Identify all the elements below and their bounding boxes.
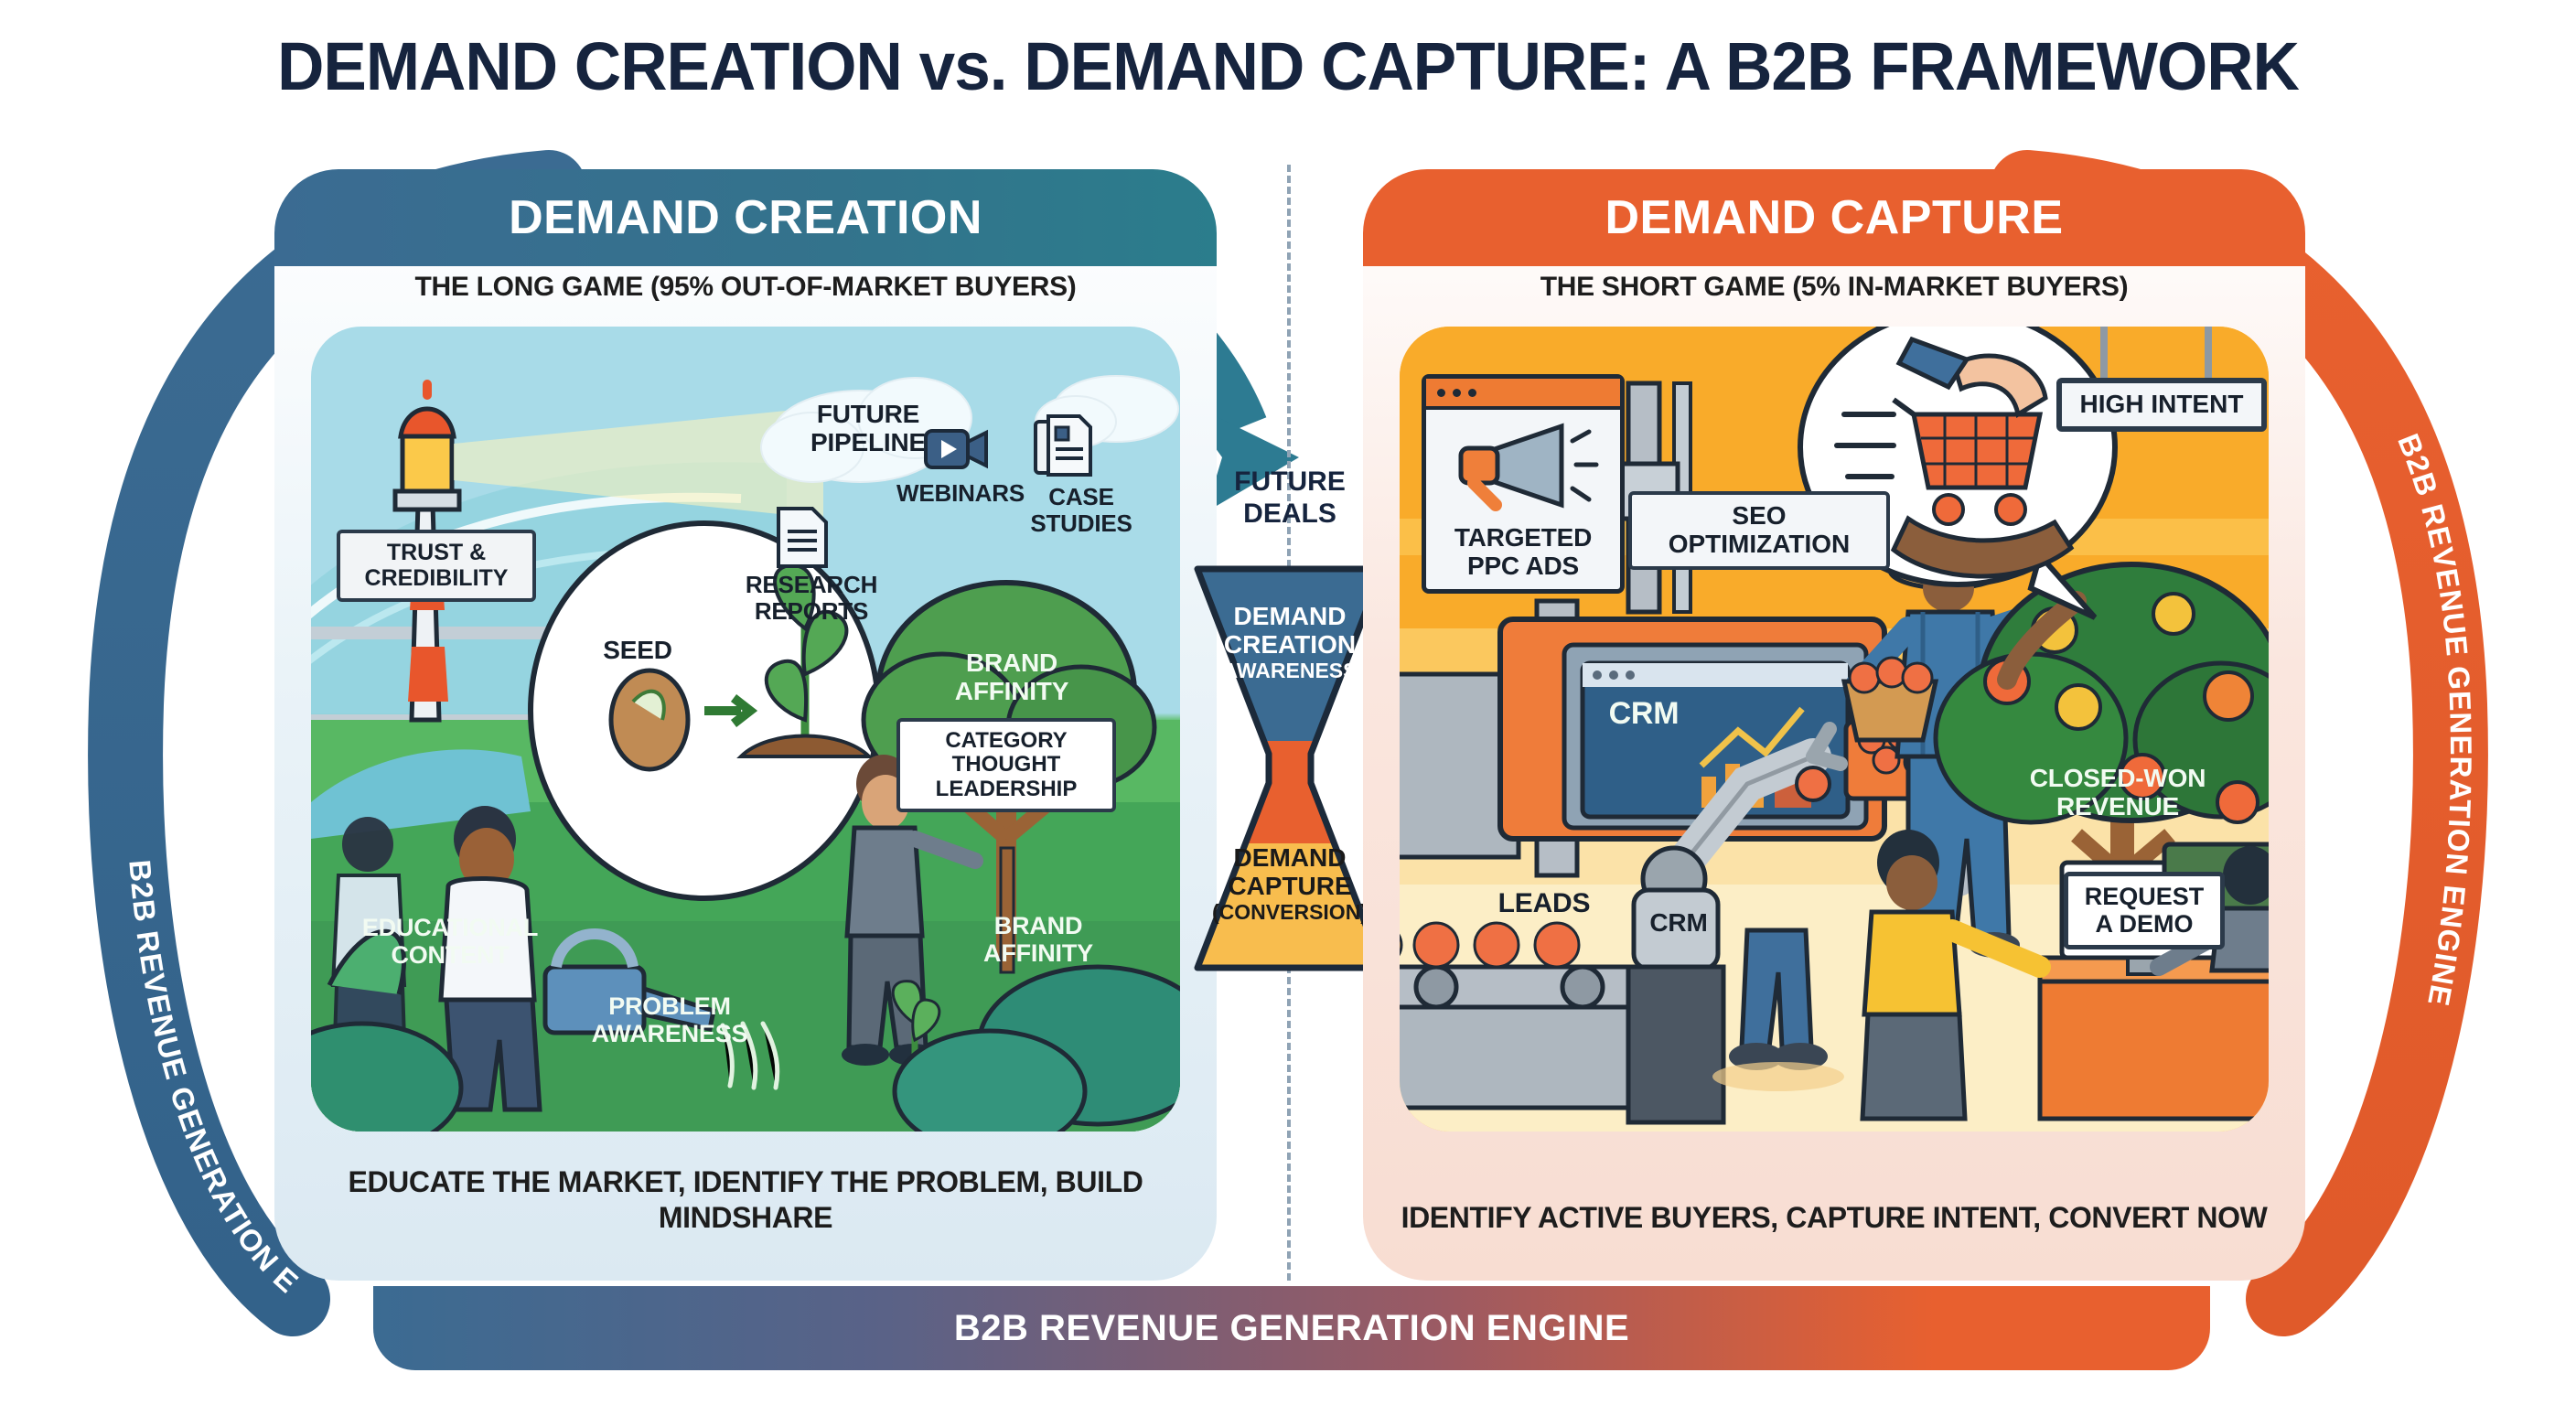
demand-capture-header: DEMAND CAPTURE: [1363, 169, 2305, 266]
request-a-demo-sign: REQUEST A DEMO: [2064, 872, 2225, 949]
demand-creation-scene: TRUST & CREDIBILITY FUTURE PIPELINE WEBI…: [311, 327, 1180, 1132]
seed-label: SEED: [578, 636, 697, 664]
future-deals-label: FUTURE DEALS: [1189, 467, 1390, 530]
case-studies-icon: [1034, 414, 1092, 485]
demand-capture-caption: IDENTIFY ACTIVE BUYERS, CAPTURE INTENT, …: [1363, 1200, 2305, 1237]
case-studies-label: CASE STUDIES: [1008, 484, 1154, 537]
brand-affinity-tree-label: BRAND AFFINITY: [929, 649, 1094, 706]
problem-awareness-label: PROBLEM AWARENESS: [560, 992, 779, 1047]
crm-screen-label: CRM: [1594, 696, 1694, 731]
left-rail-label: B2B REVENUE GENERATION ENGINE: [0, 0, 306, 1300]
bottom-engine-banner: B2B REVENUE GENERATION ENGINE: [373, 1286, 2210, 1370]
research-reports-label: RESEARCH REPORTS: [724, 572, 898, 625]
demand-creation-subtitle: THE LONG GAME (95% OUT-OF-MARKET BUYERS): [274, 272, 1217, 303]
center-funnel-column: FUTURE DEALS DEMAND CREATION (AWARENESS): [1217, 169, 1363, 1281]
demand-capture-panel: DEMAND CAPTURE THE SHORT GAME (5% IN-MAR…: [1363, 169, 2305, 1281]
seo-optimization-sign: SEO OPTIMIZATION: [1628, 491, 1890, 570]
demand-creation-caption: EDUCATE THE MARKET, IDENTIFY THE PROBLEM…: [274, 1164, 1217, 1237]
targeted-ppc-window: TARGETED PPC ADS: [1422, 374, 1625, 594]
future-pipeline-label: FUTURE PIPELINE: [790, 400, 946, 457]
page-title: DEMAND CREATION vs. DEMAND CAPTURE: A B2…: [51, 27, 2524, 105]
educational-content-label: EDUCATIONAL CONTENT: [331, 914, 569, 969]
closed-won-revenue-label: CLOSED-WON REVENUE: [2003, 764, 2232, 821]
crm-robot-label: CRM: [1630, 908, 1727, 937]
category-thought-leadership-sign: CATEGORY THOUGHT LEADERSHIP: [896, 718, 1116, 812]
brand-affinity-bush-label: BRAND AFFINITY: [951, 912, 1125, 967]
demand-capture-scene: TARGETED PPC ADS SEO OPTIMIZATION HIGH I…: [1400, 327, 2269, 1132]
demand-creation-header: DEMAND CREATION: [274, 169, 1217, 266]
high-intent-sign: HIGH INTENT: [2056, 378, 2267, 432]
trust-credibility-tag: TRUST & CREDIBILITY: [337, 530, 536, 602]
infographic-canvas: DEMAND CREATION vs. DEMAND CAPTURE: A B2…: [0, 0, 2576, 1405]
leads-label: LEADS: [1471, 888, 1617, 919]
webinars-icon: [924, 425, 990, 477]
research-reports-icon: [776, 506, 829, 574]
right-rail-label: B2B REVENUE GENERATION ENGINE: [2391, 429, 2478, 1009]
targeted-ppc-label: TARGETED PPC ADS: [1426, 523, 1620, 581]
demand-capture-subtitle: THE SHORT GAME (5% IN-MARKET BUYERS): [1363, 272, 2305, 303]
megaphone-icon: [1426, 410, 1620, 520]
seed-icon: [611, 670, 688, 769]
demand-creation-panel: DEMAND CREATION THE LONG GAME (95% OUT-O…: [274, 169, 1217, 1281]
